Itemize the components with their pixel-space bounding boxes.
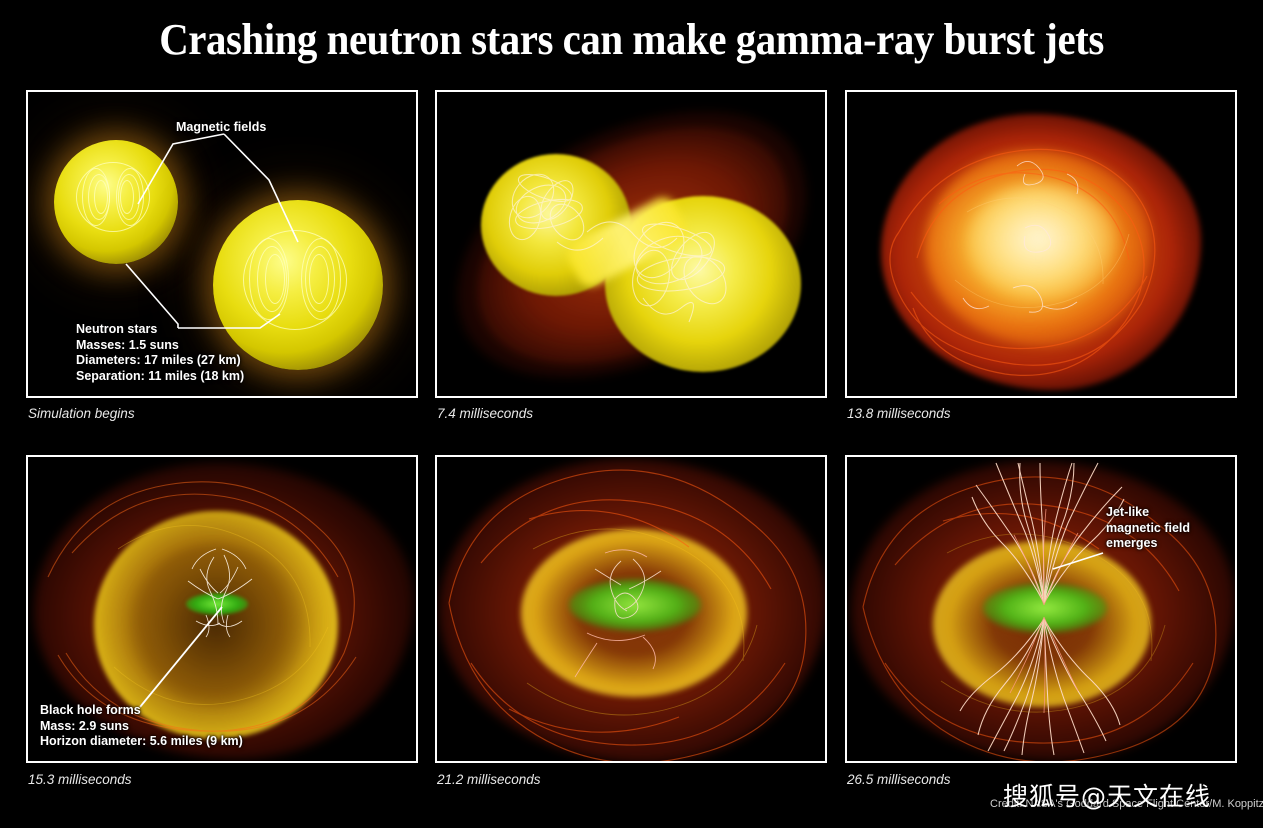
black-hole-mass: Mass: 2.9 suns: [40, 719, 243, 735]
infographic-root: Crashing neutron stars can make gamma-ra…: [0, 0, 1263, 828]
jet-magnetic-field-lines: [847, 457, 1235, 761]
panel-4-scene: Black hole forms Mass: 2.9 suns Horizon …: [28, 457, 416, 761]
neutron-stars-diameter: Diameters: 17 miles (27 km): [76, 353, 244, 369]
caption-panel-2: 7.4 milliseconds: [437, 406, 533, 421]
panel-15-3-ms[interactable]: Black hole forms Mass: 2.9 suns Horizon …: [26, 455, 418, 763]
panel-3-scene: [847, 92, 1235, 396]
magnetic-fields-text: Magnetic fields: [176, 120, 266, 136]
neutron-stars-mass: Masses: 1.5 suns: [76, 338, 244, 354]
panel-26-5-ms[interactable]: Jet-like magnetic field emerges: [845, 455, 1237, 763]
neutron-stars-label: Neutron stars Masses: 1.5 suns Diameters…: [76, 322, 244, 384]
jet-label: Jet-like magnetic field emerges: [1106, 505, 1190, 552]
panel-5-scene: [437, 457, 825, 761]
panel-13-8-ms[interactable]: [845, 90, 1237, 398]
caption-panel-4: 15.3 milliseconds: [28, 772, 132, 787]
page-title: Crashing neutron stars can make gamma-ra…: [44, 14, 1219, 65]
black-hole-title: Black hole forms: [40, 703, 243, 719]
panel-2-scene: [437, 92, 825, 396]
caption-panel-3: 13.8 milliseconds: [847, 406, 951, 421]
field-wisps-5: [437, 457, 825, 761]
panel-6-scene: Jet-like magnetic field emerges: [847, 457, 1235, 761]
magnetic-field-lines-left: [54, 140, 178, 264]
neutron-stars-separation: Separation: 11 miles (18 km): [76, 369, 244, 385]
panel-simulation-begins[interactable]: Magnetic fields Neutron stars Masses: 1.…: [26, 90, 418, 398]
panel-7-4-ms[interactable]: [435, 90, 827, 398]
field-line-tangle-3: [847, 92, 1235, 396]
caption-panel-5: 21.2 milliseconds: [437, 772, 541, 787]
caption-panel-6: 26.5 milliseconds: [847, 772, 951, 787]
caption-panel-1: Simulation begins: [28, 406, 135, 421]
watermark: 搜狐号@天文在线: [1003, 777, 1211, 813]
jet-label-line-1: Jet-like: [1106, 505, 1190, 521]
jet-label-line-2: magnetic field: [1106, 521, 1190, 537]
black-hole-horizon: Horizon diameter: 5.6 miles (9 km): [40, 734, 243, 750]
neutron-stars-title: Neutron stars: [76, 322, 244, 338]
jet-label-line-3: emerges: [1106, 536, 1190, 552]
panel-1-scene: Magnetic fields Neutron stars Masses: 1.…: [28, 92, 416, 396]
tangled-field-lines-2: [437, 92, 825, 396]
black-hole-label: Black hole forms Mass: 2.9 suns Horizon …: [40, 703, 243, 750]
magnetic-fields-label: Magnetic fields: [176, 120, 266, 136]
panel-21-2-ms[interactable]: [435, 455, 827, 763]
